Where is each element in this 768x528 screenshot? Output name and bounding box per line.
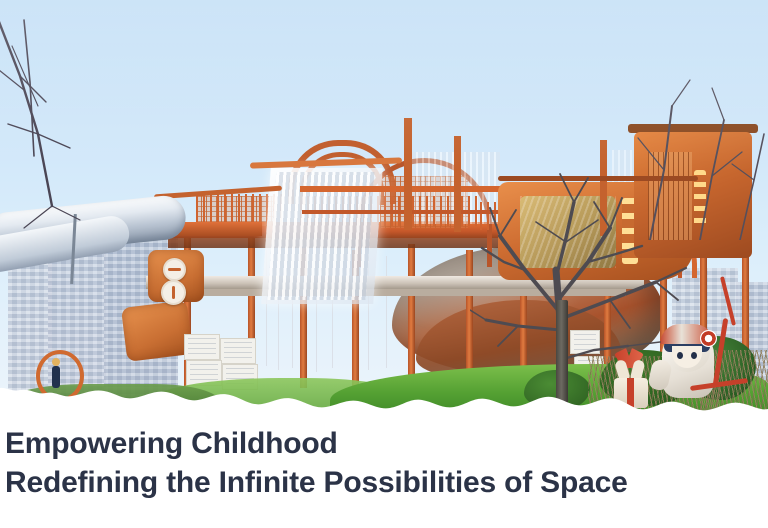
hero-photo: [0, 0, 768, 430]
banner-root: Empowering Childhood Redefining the Infi…: [0, 0, 768, 528]
photo-haze-overlay: [0, 0, 768, 430]
headline-line-1: Empowering Childhood: [5, 424, 705, 463]
headline-line-2: Redefining the Infinite Possibilities of…: [5, 463, 705, 502]
caption-block: Empowering Childhood Redefining the Infi…: [5, 424, 705, 502]
